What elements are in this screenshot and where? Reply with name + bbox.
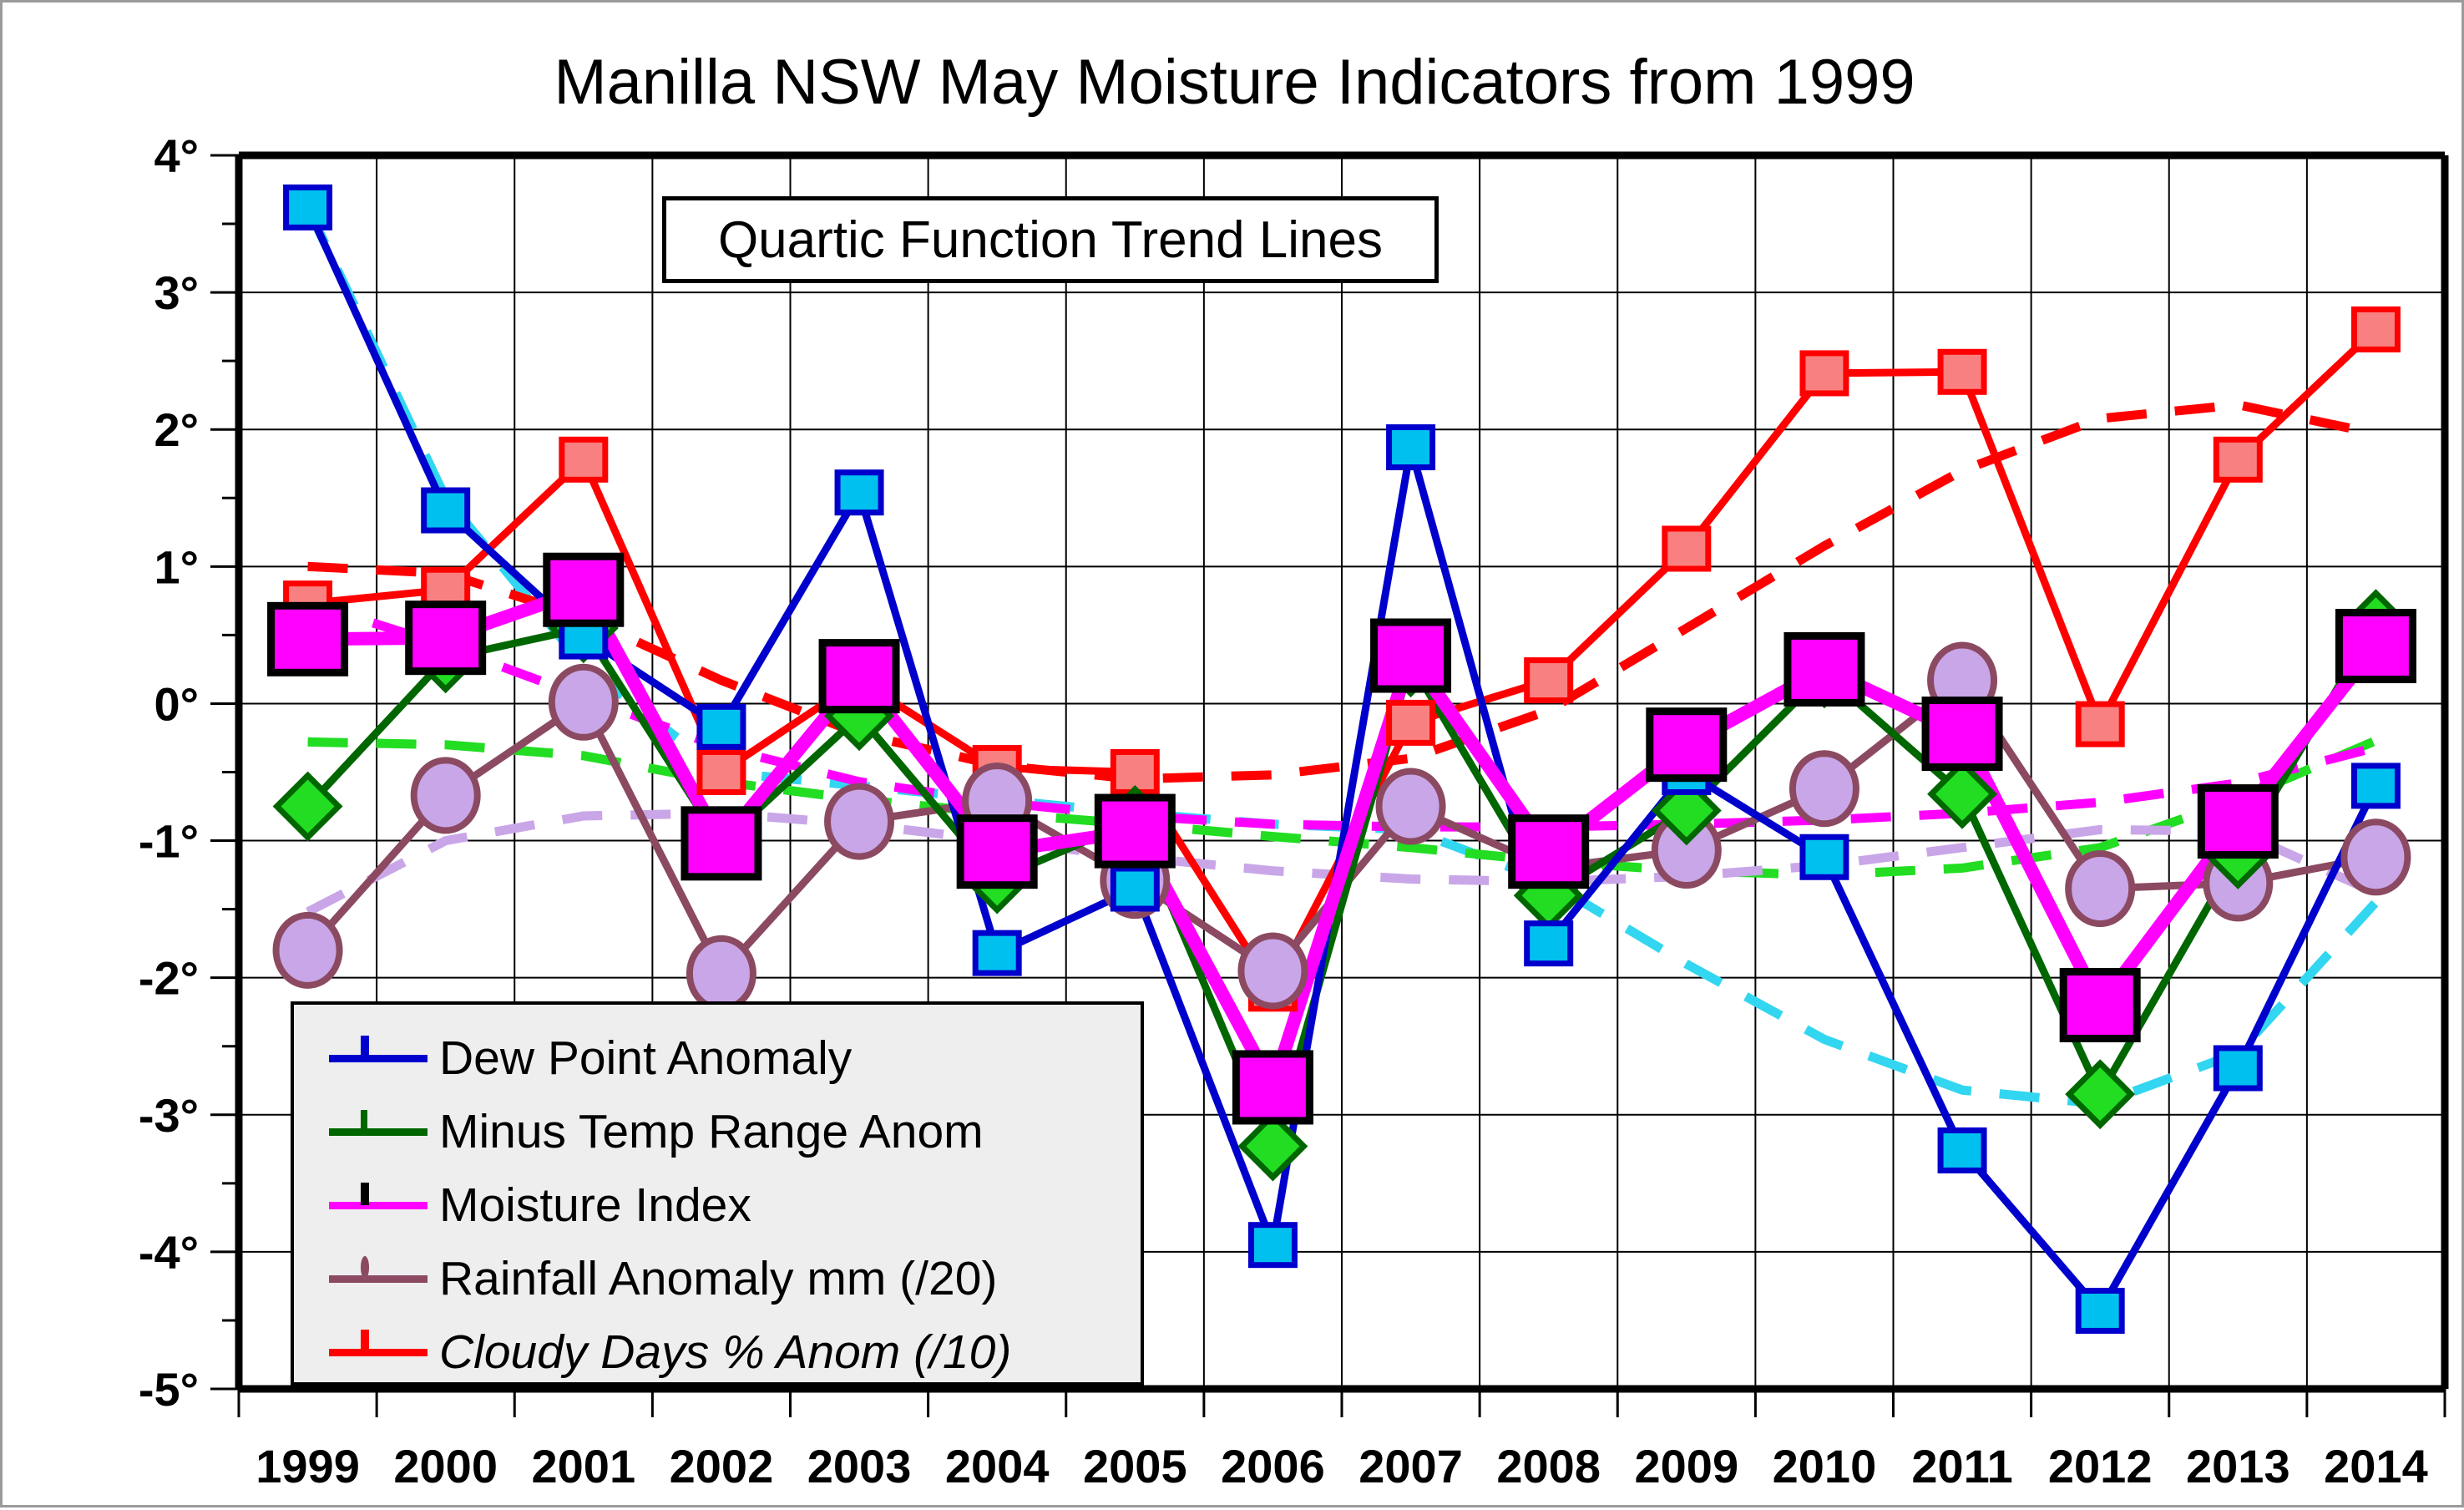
data-point-square: [547, 556, 620, 623]
square-icon: [361, 1040, 369, 1055]
legend-label-temp-range: Minus Temp Range Anom: [439, 1108, 984, 1156]
y-tick-label: -4°: [139, 1226, 199, 1279]
data-point-square: [1389, 428, 1433, 468]
data-point-square: [409, 605, 483, 671]
legend-key-cloudy-days: [329, 1330, 428, 1374]
data-point-circle: [2068, 854, 2132, 924]
data-point-square: [1925, 701, 1999, 768]
data-point-square: [562, 439, 605, 479]
y-tick-label: 2°: [154, 403, 199, 456]
x-tick-label: 2013: [2186, 1440, 2290, 1492]
y-tick-label: 1°: [154, 540, 199, 593]
legend-item-moisture-index[interactable]: Moisture Index: [329, 1170, 1141, 1240]
data-point-square: [1113, 869, 1156, 909]
data-point-circle: [827, 787, 891, 857]
legend-item-dew-point[interactable]: Dew Point Anomaly: [329, 1023, 1141, 1093]
legend-item-temp-range[interactable]: Minus Temp Range Anom: [329, 1097, 1141, 1167]
x-tick-label: 2010: [1773, 1440, 1877, 1492]
y-tick-label: -5°: [139, 1363, 199, 1416]
data-point-square: [2354, 309, 2397, 349]
data-point-square: [2063, 971, 2137, 1038]
data-point-square: [685, 810, 758, 877]
data-point-circle: [1793, 753, 1856, 823]
data-point-square: [1940, 352, 1984, 392]
data-point-circle: [1379, 772, 1443, 842]
x-tick-label: 2002: [670, 1440, 774, 1492]
data-point-circle: [276, 915, 340, 986]
data-point-square: [2216, 1048, 2259, 1088]
chart-legend: Dew Point Anomaly Minus Temp Range Anom …: [291, 1001, 1144, 1386]
data-point-square: [286, 187, 330, 227]
data-point-circle: [2344, 822, 2407, 892]
data-point-square: [2354, 766, 2397, 806]
data-point-square: [1236, 1054, 1309, 1121]
y-tick-label: 3°: [154, 266, 199, 319]
legend-line-moisture-index: [329, 1202, 428, 1209]
x-tick-label: 2008: [1496, 1440, 1601, 1492]
annotation-box: Quartic Function Trend Lines: [662, 196, 1439, 283]
data-point-square: [1527, 924, 1571, 964]
legend-label-dew-point: Dew Point Anomaly: [439, 1035, 852, 1082]
legend-label-cloudy-days: Cloudy Days % Anom (/10): [439, 1329, 1011, 1376]
data-point-square: [1374, 622, 1448, 689]
data-point-square: [1098, 798, 1171, 864]
annotation-text: Quartic Function Trend Lines: [718, 210, 1383, 270]
legend-key-temp-range: [329, 1110, 428, 1153]
data-point-square: [837, 473, 881, 513]
circle-icon: [361, 1260, 369, 1275]
legend-key-dew-point: [329, 1036, 428, 1080]
data-point-square: [2216, 439, 2259, 479]
legend-key-moisture-index: [329, 1183, 428, 1227]
legend-label-moisture-index: Moisture Index: [439, 1182, 751, 1229]
x-tick-label: 2007: [1358, 1440, 1463, 1492]
data-point-square: [1650, 712, 1723, 778]
data-point-square: [1803, 837, 1846, 877]
data-point-square: [1665, 529, 1708, 569]
y-tick-label: -3°: [139, 1089, 199, 1142]
data-point-square: [1940, 1130, 1984, 1170]
x-tick-label: 2014: [2324, 1440, 2428, 1492]
data-point-square: [271, 606, 345, 672]
legend-line-temp-range: [329, 1128, 428, 1136]
x-tick-label: 2001: [532, 1440, 636, 1492]
data-point-square: [700, 752, 743, 793]
data-point-square: [700, 707, 743, 747]
data-point-circle: [414, 760, 478, 830]
data-point-square: [424, 490, 468, 530]
y-tick-label: 4°: [154, 129, 199, 182]
x-tick-label: 2000: [393, 1440, 498, 1492]
x-tick-label: 1999: [256, 1440, 360, 1492]
legend-label-rainfall: Rainfall Anomaly mm (/20): [439, 1255, 997, 1303]
x-tick-label: 2006: [1221, 1440, 1325, 1492]
data-point-square: [1251, 1225, 1294, 1265]
data-point-square: [975, 933, 1019, 973]
diamond-icon: [361, 1113, 367, 1128]
square-icon: [361, 1334, 369, 1349]
data-point-square: [960, 818, 1034, 885]
x-tick-label: 2003: [807, 1440, 912, 1492]
data-point-square: [822, 643, 896, 710]
data-point-square: [1527, 661, 1571, 701]
y-tick-label: -1°: [139, 815, 199, 868]
x-tick-label: 2004: [945, 1440, 1050, 1492]
data-point-square: [1803, 353, 1846, 393]
data-point-square: [2078, 1290, 2122, 1330]
data-point-square: [1788, 636, 1861, 702]
data-point-circle: [1241, 935, 1304, 1006]
y-tick-label: -2°: [139, 952, 199, 1005]
data-point-square: [2201, 788, 2274, 855]
y-tick-label: 0°: [154, 677, 199, 730]
x-tick-label: 2012: [2048, 1440, 2153, 1492]
data-point-square: [2339, 613, 2412, 680]
x-tick-label: 2011: [1911, 1440, 2013, 1492]
chart-frame: Manilla NSW May Moisture Indicators from…: [0, 0, 2464, 1507]
data-point-square: [1512, 818, 1586, 885]
data-point-circle: [552, 667, 615, 737]
data-point-square: [2078, 704, 2122, 744]
x-tick-label: 2005: [1083, 1440, 1187, 1492]
legend-item-rainfall[interactable]: Rainfall Anomaly mm (/20): [329, 1244, 1141, 1314]
legend-line-cloudy-days: [329, 1349, 428, 1356]
square-icon: [361, 1187, 369, 1202]
data-point-circle: [690, 939, 753, 1009]
legend-item-cloudy-days[interactable]: Cloudy Days % Anom (/10): [329, 1317, 1141, 1387]
data-point-square: [1389, 702, 1433, 742]
x-tick-label: 2009: [1635, 1440, 1739, 1492]
legend-line-dew-point: [329, 1055, 428, 1062]
legend-key-rainfall: [329, 1257, 428, 1300]
legend-line-rainfall: [329, 1275, 428, 1283]
